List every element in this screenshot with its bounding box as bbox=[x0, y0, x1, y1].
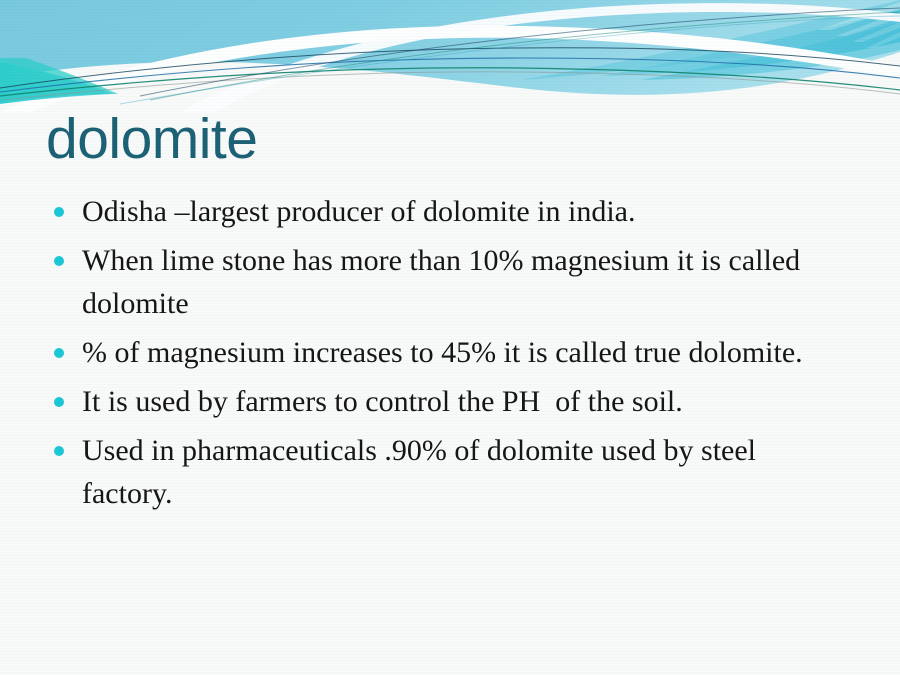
bullet-dot-icon bbox=[54, 348, 64, 358]
bullet-dot-icon bbox=[54, 256, 64, 266]
list-item: When lime stone has more than 10% magnes… bbox=[46, 239, 846, 325]
list-item: Used in pharmaceuticals .90% of dolomite… bbox=[46, 429, 846, 515]
list-item: It is used by farmers to control the PH … bbox=[46, 380, 846, 423]
presentation-slide: dolomite Odisha –largest producer of dol… bbox=[0, 0, 900, 675]
list-item: % of magnesium increases to 45% it is ca… bbox=[46, 331, 846, 374]
list-item-text: % of magnesium increases to 45% it is ca… bbox=[82, 331, 846, 374]
bullet-dot-icon bbox=[54, 207, 64, 217]
bullet-dot-icon bbox=[54, 446, 64, 456]
list-item-text: Used in pharmaceuticals .90% of dolomite… bbox=[82, 429, 846, 515]
slide-body-bullet-list: Odisha –largest producer of dolomite in … bbox=[46, 190, 846, 521]
list-item-text: It is used by farmers to control the PH … bbox=[82, 380, 846, 423]
list-item-text: Odisha –largest producer of dolomite in … bbox=[82, 190, 846, 233]
slide-title: dolomite bbox=[46, 107, 257, 171]
list-item-text: When lime stone has more than 10% magnes… bbox=[82, 239, 846, 325]
bullet-dot-icon bbox=[54, 397, 64, 407]
wave-banner-decoration bbox=[0, 0, 900, 112]
list-item: Odisha –largest producer of dolomite in … bbox=[46, 190, 846, 233]
